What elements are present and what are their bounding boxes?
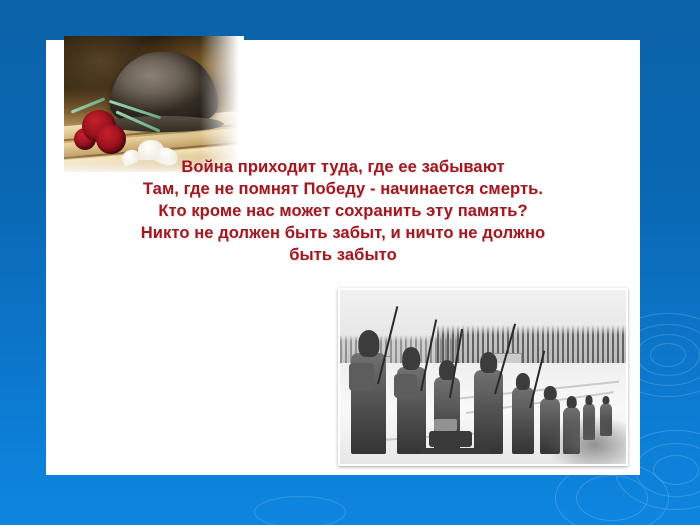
- sled-cargo: [429, 431, 472, 447]
- quote-text-block: Война приходит туда, где ее забывают Там…: [52, 156, 634, 266]
- photo-fade-right: [200, 36, 244, 172]
- red-carnation: [96, 124, 126, 154]
- soldier-backpack: [349, 363, 375, 391]
- quote-line-1: Война приходит туда, где ее забывают: [52, 156, 634, 178]
- quote-line-4: Никто не должен быть забыт, и ничто не д…: [52, 222, 634, 244]
- quote-line-5: быть забыто: [52, 244, 634, 266]
- helmet-and-carnations-photo: [64, 36, 244, 172]
- sled-cargo: [434, 419, 457, 431]
- quote-line-2: Там, где не помнят Победу - начинается с…: [52, 178, 634, 200]
- equipment-sled: [420, 448, 489, 453]
- soviet-soldiers-winter-march-photo: [338, 288, 628, 466]
- presentation-slide: Война приходит туда, где ее забывают Там…: [0, 0, 700, 525]
- soldier-backpack: [394, 374, 417, 398]
- quote-line-3: Кто кроме нас может сохранить эту память…: [52, 200, 634, 222]
